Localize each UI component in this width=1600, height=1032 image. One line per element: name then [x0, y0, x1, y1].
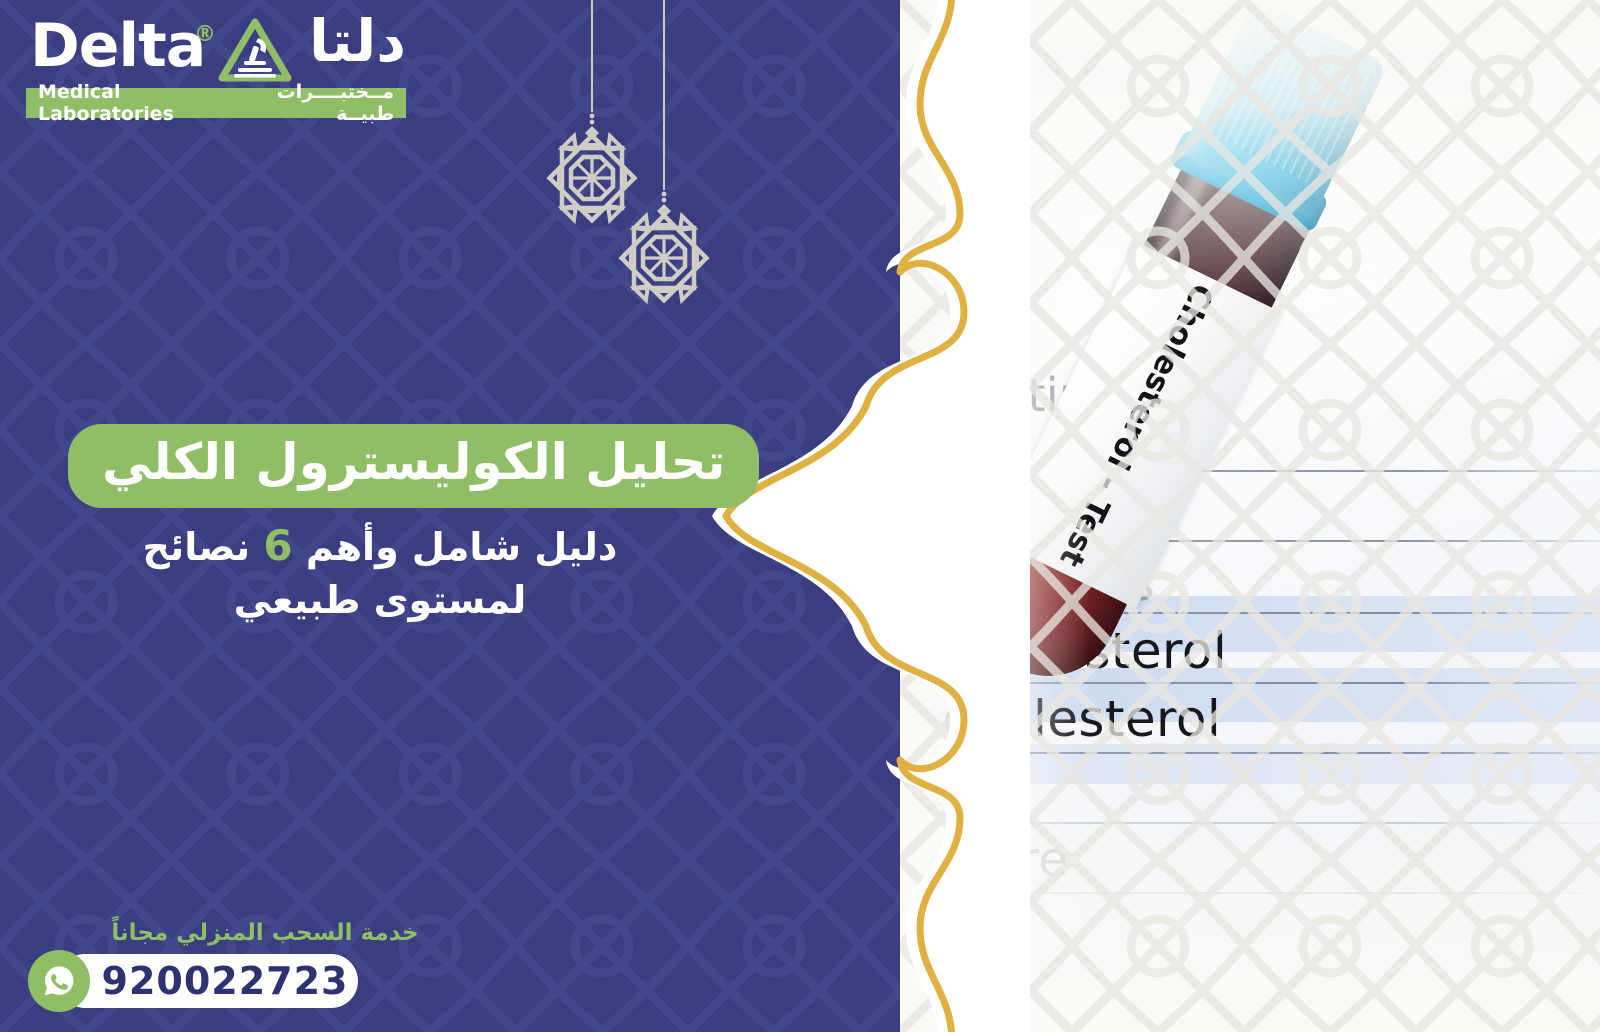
page-title: تحليل الكوليسترول الكلي: [102, 434, 725, 492]
subheadline-before: دليل شامل وأهم: [306, 525, 618, 569]
phone-number: 920022723: [68, 959, 349, 1003]
arabesque-pattern-right: [900, 0, 1600, 1032]
phone-pill[interactable]: 920022723: [58, 954, 358, 1008]
logo-wordmark-row: Delta ® دلتا: [26, 14, 406, 86]
hanging-islamic-star-ornament-icon: [550, 136, 635, 221]
hanging-ornaments-group: [520, 0, 750, 330]
registered-mark-icon: ®: [194, 22, 216, 47]
promo-banner: ngNon-fastingHbA1cLipidsTriglyceridesDLc…: [0, 0, 1600, 1032]
logo-tagline-bar: Medical Laboratories مــختبــــرات طبيــ…: [26, 88, 406, 118]
logo-name-ar: دلتا: [309, 12, 406, 70]
logo-name-en: Delta: [30, 16, 205, 76]
delta-logo[interactable]: Delta ® دلتا Medical Laboratories مــختب…: [26, 14, 406, 118]
right-photo-panel: ngNon-fastingHbA1cLipidsTriglyceridesDLc…: [900, 0, 1600, 1032]
home-collection-tagline: خدمة السحب المنزلي مجاناً: [100, 920, 430, 946]
hanging-islamic-star-ornament-icon: [622, 216, 707, 301]
headline-badge: تحليل الكوليسترول الكلي: [68, 424, 759, 508]
contact-block: خدمة السحب المنزلي مجاناً 920022723: [28, 920, 458, 1012]
subheadline: دليل شامل وأهم 6 نصائح لمستوى طبيعي: [60, 518, 700, 626]
phone-row[interactable]: 920022723: [28, 950, 458, 1012]
microscope-in-triangle-icon: [218, 18, 292, 84]
arabesque-pattern-left: [0, 0, 1000, 1032]
logo-tagline-en: Medical Laboratories: [38, 81, 235, 125]
logo-tagline-ar: مــختبــــرات طبيــة: [235, 81, 394, 125]
whatsapp-icon[interactable]: [28, 950, 90, 1012]
left-navy-panel: [0, 0, 1000, 1032]
subheadline-number: 6: [263, 521, 292, 570]
